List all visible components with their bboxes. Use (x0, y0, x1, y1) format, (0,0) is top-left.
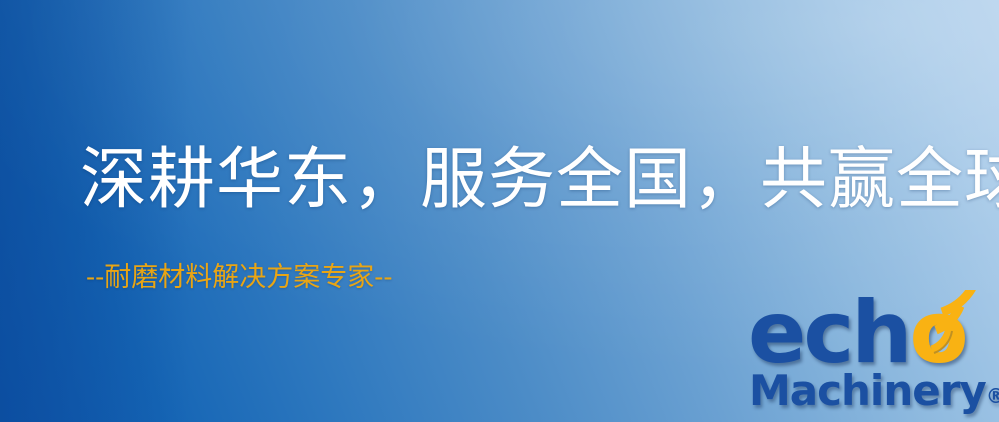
banner-headline: 深耕华东，服务全国，共赢全球 (80, 146, 999, 213)
logo-tagline-text: Machinery (749, 366, 986, 415)
echo-machinery-logo: echo Machinery® (744, 294, 999, 422)
registered-trademark-icon: ® (986, 384, 999, 408)
echo-signal-waves-icon (926, 290, 999, 358)
logo-tagline: Machinery® (749, 370, 999, 417)
banner-subheadline: --耐磨材料解决方案专家-- (86, 264, 393, 291)
promo-banner: 深耕华东，服务全国，共赢全球 --耐磨材料解决方案专家-- echo Machi… (0, 0, 999, 422)
